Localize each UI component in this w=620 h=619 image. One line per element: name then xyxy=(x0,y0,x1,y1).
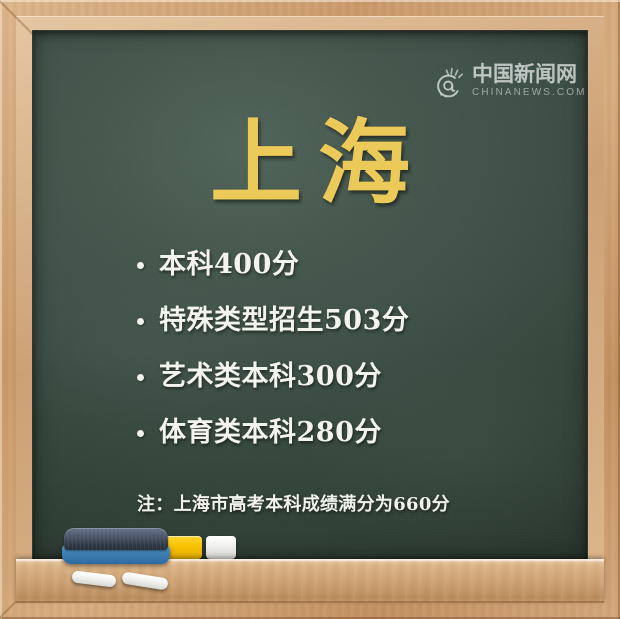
list-item: 艺术类本科300分 xyxy=(137,349,557,405)
watermark-text: 中国新闻网 CHINANEWS.COM xyxy=(472,63,587,99)
bullet-dot-icon xyxy=(137,430,144,437)
bullet-dot-icon xyxy=(137,318,144,325)
white-chalk-block xyxy=(206,536,236,559)
at-sign-circle-icon xyxy=(437,67,467,101)
page-title: 上海 xyxy=(33,113,587,213)
chinanews-watermark: 中国新闻网 CHINANEWS.COM xyxy=(437,63,587,101)
watermark-en-name: CHINANEWS.COM xyxy=(472,87,587,99)
score-label: 本科400分 xyxy=(159,249,299,281)
chalkboard-poster: 中国新闻网 CHINANEWS.COM 上海 本科400分 特殊类型招生503分… xyxy=(0,0,620,619)
footnote: 注：上海市高考本科成绩满分为660分 xyxy=(137,493,450,517)
score-label: 体育类本科280分 xyxy=(159,417,382,449)
score-label: 特殊类型招生503分 xyxy=(159,305,409,337)
score-label: 艺术类本科300分 xyxy=(159,361,382,393)
eraser-felt xyxy=(64,528,168,550)
bullet-dot-icon xyxy=(137,262,144,269)
blackboard-eraser xyxy=(62,528,170,564)
bullet-dot-icon xyxy=(137,374,144,381)
list-item: 特殊类型招生503分 xyxy=(137,293,557,349)
list-item: 体育类本科280分 xyxy=(137,405,557,461)
score-list: 本科400分 特殊类型招生503分 艺术类本科300分 体育类本科280分 xyxy=(137,237,557,461)
watermark-cn-name: 中国新闻网 xyxy=(472,63,587,86)
chalkboard-surface: 中国新闻网 CHINANEWS.COM 上海 本科400分 特殊类型招生503分… xyxy=(33,31,587,559)
list-item: 本科400分 xyxy=(137,237,557,293)
